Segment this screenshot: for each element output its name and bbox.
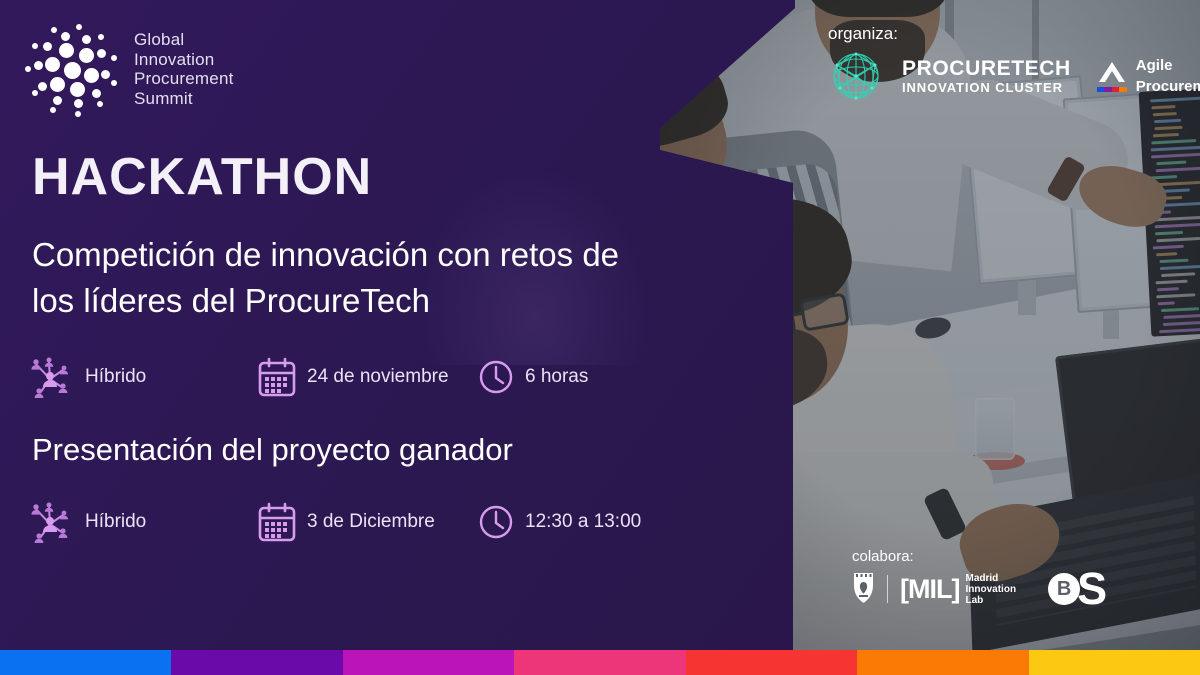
color-segment-blue — [0, 650, 171, 675]
mil-line-1: Madrid — [966, 573, 1017, 584]
event2-meta-row: Híbrido 3 de Dicie — [28, 500, 641, 544]
event1-duration: 6 horas — [478, 359, 588, 395]
collaborator-logos: [MIL] Madrid Innovation Lab B S — [852, 570, 1182, 608]
logo-line-3: Procurement — [134, 69, 234, 89]
organiza-label: organiza: — [828, 24, 1193, 44]
color-segment-orange — [857, 650, 1028, 675]
color-segment-pink — [514, 650, 685, 675]
event1-duration-label: 6 horas — [525, 366, 588, 388]
mil-line-3: Lab — [966, 595, 1017, 606]
colabora-label: colabora: — [852, 548, 1182, 565]
procuretech-line-2: INNOVATION CLUSTER — [902, 80, 1071, 96]
collaborators-block: colabora: [MIL] Madrid Innovation Lab — [852, 548, 1182, 608]
logo-line-1: Global — [134, 30, 234, 50]
color-segment-yellow — [1029, 650, 1200, 675]
madrid-coat-of-arms-icon — [852, 573, 875, 605]
event2-time: 12:30 a 13:00 — [478, 504, 641, 540]
page-title: HACKATHON — [32, 147, 372, 207]
subtitle-line-1: Competición de innovación con retos de — [32, 232, 619, 278]
event1-date: 24 de noviembre — [258, 357, 478, 397]
event1-meta-row: Híbrido 24 de novi — [28, 355, 588, 399]
color-segment-red — [686, 650, 857, 675]
people-network-icon — [28, 355, 74, 399]
people-network-icon — [28, 500, 74, 544]
color-segment-magenta — [343, 650, 514, 675]
calendar-icon — [258, 357, 296, 397]
agile-procurement-logo: Agile Procurement® — [1095, 57, 1200, 95]
logo-line-4: Summit — [134, 89, 234, 109]
event2-title: Presentación del proyecto ganador — [32, 432, 513, 468]
procuretech-wordmark: PROCURETECH INNOVATION CLUSTER — [902, 57, 1071, 96]
organizer-logos: PROCURETECH INNOVATION CLUSTER Agile Pro… — [828, 48, 1193, 104]
brand-color-bar — [0, 650, 1200, 675]
event2-date-label: 3 de Diciembre — [307, 511, 435, 533]
event2-mode-label: Híbrido — [85, 511, 146, 533]
clock-icon — [478, 504, 514, 540]
event2-date: 3 de Diciembre — [258, 502, 478, 542]
agile-line-2: Procurement® — [1136, 74, 1200, 95]
organizers-block: organiza: — [828, 24, 1193, 104]
agile-color-bars — [1097, 87, 1127, 92]
bs-s-mark: S — [1077, 570, 1107, 608]
agile-chevron-icon — [1095, 60, 1129, 92]
event1-date-label: 24 de noviembre — [307, 366, 449, 388]
summit-logo: Global Innovation Procurement Summit — [22, 20, 282, 120]
wireframe-globe-icon — [828, 48, 884, 104]
event2-time-label: 12:30 a 13:00 — [525, 511, 641, 533]
clock-icon — [478, 359, 514, 395]
color-segment-purple — [171, 650, 342, 675]
calendar-icon — [258, 502, 296, 542]
event1-mode-label: Híbrido — [85, 366, 146, 388]
summit-logo-wordmark: Global Innovation Procurement Summit — [134, 30, 234, 108]
dot-cluster-icon — [22, 22, 122, 118]
event2-mode: Híbrido — [28, 500, 258, 544]
logo-divider — [887, 575, 888, 603]
page-subtitle: Competición de innovación con retos de l… — [32, 232, 619, 324]
procuretech-line-1: PROCURETECH — [902, 57, 1071, 80]
mil-logo: [MIL] Madrid Innovation Lab — [900, 573, 1016, 606]
mil-wordmark: Madrid Innovation Lab — [966, 573, 1017, 606]
event1-mode: Híbrido — [28, 355, 258, 399]
bs-b-mark: B — [1048, 573, 1080, 605]
mil-line-2: Innovation — [966, 584, 1017, 595]
mil-mark: [MIL] — [900, 576, 960, 603]
agile-line-1: Agile — [1136, 57, 1200, 74]
banco-sabadell-logo: B S — [1048, 570, 1107, 608]
event-poster: Global Innovation Procurement Summit HAC… — [0, 0, 1200, 675]
subtitle-line-2: los líderes del ProcureTech — [32, 278, 619, 324]
logo-line-2: Innovation — [134, 50, 234, 70]
agile-wordmark: Agile Procurement® — [1136, 57, 1200, 95]
